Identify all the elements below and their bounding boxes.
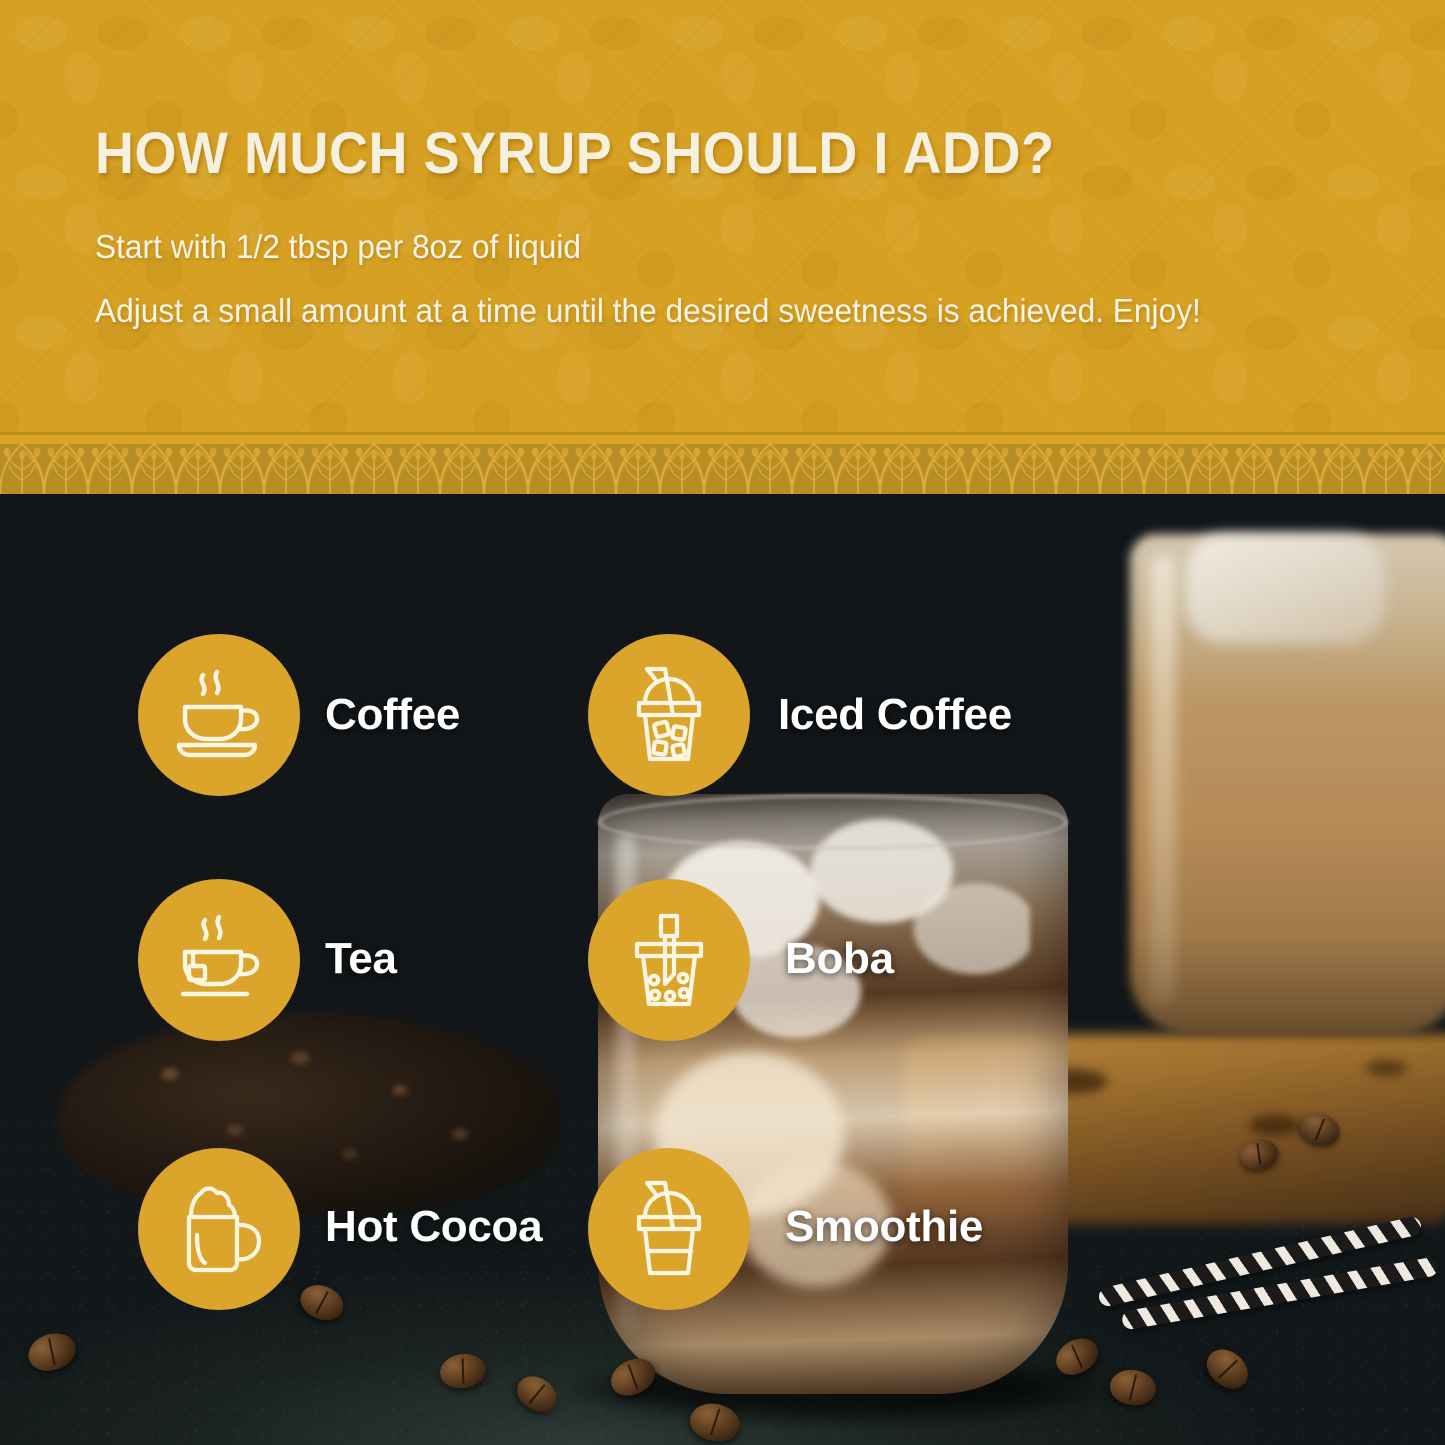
page-title: HOW MUCH SYRUP SHOULD I ADD? [95, 124, 1055, 184]
header-subtitle-line-1: Start with 1/2 tbsp per 8oz of liquid [95, 228, 581, 266]
photo-background: Coffee Iced Coffee [0, 494, 1445, 1445]
background-glass-highlight [1150, 554, 1176, 1004]
item-label-coffee: Coffee [325, 690, 460, 740]
coffee-bean-pile-detail [60, 1014, 560, 1214]
icon-circle-iced-coffee[interactable] [588, 634, 750, 796]
infographic-page: HOW MUCH SYRUP SHOULD I ADD? Start with … [0, 0, 1445, 1445]
item-label-tea: Tea [325, 934, 397, 984]
icon-circle-tea[interactable] [138, 879, 300, 1041]
iced-coffee-icon [617, 663, 721, 767]
icon-circle-boba[interactable] [588, 879, 750, 1041]
smoothie-cup-icon [617, 1177, 721, 1281]
boba-cup-icon [617, 908, 721, 1012]
icon-circle-coffee[interactable] [138, 634, 300, 796]
damask-pattern-texture [0, 0, 1445, 432]
item-label-hot-cocoa: Hot Cocoa [325, 1202, 542, 1252]
item-label-smoothie: Smoothie [785, 1202, 983, 1252]
item-label-boba: Boba [785, 934, 894, 984]
icon-circle-smoothie[interactable] [588, 1148, 750, 1310]
item-label-iced-coffee: Iced Coffee [778, 690, 1012, 740]
coffee-cup-icon [167, 663, 271, 767]
hot-cocoa-mug-icon [167, 1177, 271, 1281]
icon-circle-hot-cocoa[interactable] [138, 1148, 300, 1310]
lotus-ornament-icon [0, 440, 1445, 494]
header-subtitle-line-2: Adjust a small amount at a time until th… [95, 292, 1201, 330]
main-glass-rim [598, 794, 1068, 850]
ornamental-divider [0, 432, 1445, 494]
background-glass-ice [1185, 534, 1385, 644]
header-banner: HOW MUCH SYRUP SHOULD I ADD? Start with … [0, 0, 1445, 432]
divider-top-rule [0, 432, 1445, 435]
tea-cup-icon [167, 908, 271, 1012]
